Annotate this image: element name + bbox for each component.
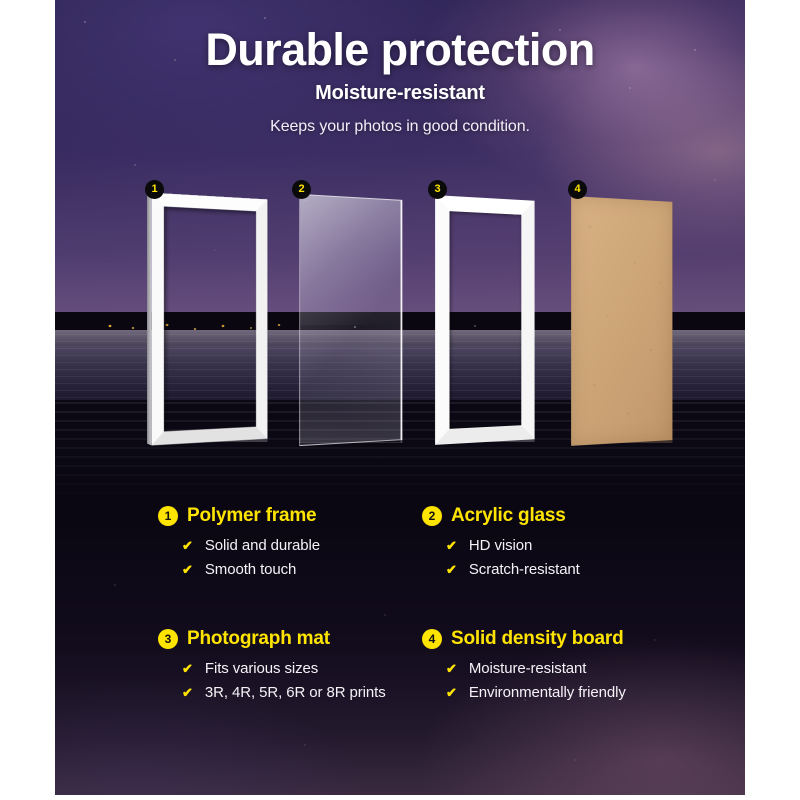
feature-item-text: Solid and durable: [205, 537, 320, 554]
photograph-mat-layer: [435, 195, 534, 445]
feature-item-text: Scratch-resistant: [469, 561, 580, 578]
check-icon: ✔: [446, 563, 457, 576]
feature-row-bottom: 3 Photograph mat ✔ Fits various sizes ✔ …: [55, 628, 745, 708]
check-icon: ✔: [446, 539, 457, 552]
feature-items: ✔ Solid and durable ✔ Smooth touch: [55, 537, 400, 578]
check-icon: ✔: [182, 539, 193, 552]
feature-item-text: 3R, 4R, 5R, 6R or 8R prints: [205, 684, 386, 701]
feature-heading: 3 Photograph mat: [55, 628, 400, 650]
check-icon: ✔: [446, 662, 457, 675]
feature-items: ✔ Fits various sizes ✔ 3R, 4R, 5R, 6R or…: [55, 660, 400, 701]
acrylic-glass-layer: [299, 194, 402, 446]
feature-heading: 2 Acrylic glass: [414, 505, 745, 527]
feature-badge-1: 1: [158, 506, 178, 526]
page-subtitle: Moisture-resistant: [0, 82, 800, 105]
list-item: ✔ HD vision: [446, 537, 745, 554]
feature-item-text: Fits various sizes: [205, 660, 318, 677]
feature-title: Acrylic glass: [451, 505, 566, 527]
feature-items: ✔ HD vision ✔ Scratch-resistant: [414, 537, 745, 578]
list-item: ✔ 3R, 4R, 5R, 6R or 8R prints: [182, 684, 400, 701]
feature-badge-3: 3: [158, 629, 178, 649]
list-item: ✔ Fits various sizes: [182, 660, 400, 677]
list-item: ✔ Solid and durable: [182, 537, 400, 554]
product-infographic: Durable protection Moisture-resistant Ke…: [0, 0, 800, 800]
feature-title: Polymer frame: [187, 505, 316, 527]
feature-item-text: HD vision: [469, 537, 532, 554]
check-icon: ✔: [182, 686, 193, 699]
layer-badge-2: 2: [292, 180, 311, 199]
feature-heading: 1 Polymer frame: [55, 505, 400, 527]
feature-list-section: 1 Polymer frame ✔ Solid and durable ✔ Sm…: [55, 505, 745, 708]
photograph-mat-inner-shadow: [449, 211, 521, 429]
feature-item-text: Moisture-resistant: [469, 660, 586, 677]
feature-items: ✔ Moisture-resistant ✔ Environmentally f…: [414, 660, 745, 701]
feature-block-photograph-mat: 3 Photograph mat ✔ Fits various sizes ✔ …: [55, 628, 400, 708]
polymer-frame-inner-shadow: [164, 207, 256, 432]
feature-row-top: 1 Polymer frame ✔ Solid and durable ✔ Sm…: [55, 505, 745, 585]
list-item: ✔ Environmentally friendly: [446, 684, 745, 701]
feature-badge-4: 4: [422, 629, 442, 649]
feature-block-polymer-frame: 1 Polymer frame ✔ Solid and durable ✔ Sm…: [55, 505, 400, 585]
check-icon: ✔: [182, 662, 193, 675]
header-block: Durable protection Moisture-resistant Ke…: [0, 26, 800, 136]
feature-badge-2: 2: [422, 506, 442, 526]
page-title: Durable protection: [0, 26, 800, 74]
feature-title: Solid density board: [451, 628, 624, 650]
list-item: ✔ Moisture-resistant: [446, 660, 745, 677]
list-item: ✔ Scratch-resistant: [446, 561, 745, 578]
polymer-frame-layer: [151, 193, 267, 446]
check-icon: ✔: [446, 686, 457, 699]
feature-block-acrylic-glass: 2 Acrylic glass ✔ HD vision ✔ Scratch-re…: [400, 505, 745, 585]
feature-block-solid-density-board: 4 Solid density board ✔ Moisture-resista…: [400, 628, 745, 708]
list-item: ✔ Smooth touch: [182, 561, 400, 578]
solid-density-board-layer: [571, 196, 672, 446]
solid-density-board-face: [571, 196, 672, 446]
layer-badge-4: 4: [568, 180, 587, 199]
acrylic-glass-sheen: [300, 195, 400, 325]
feature-title: Photograph mat: [187, 628, 330, 650]
layer-badge-1: 1: [145, 180, 164, 199]
feature-heading: 4 Solid density board: [414, 628, 745, 650]
acrylic-glass-face: [299, 194, 402, 446]
check-icon: ✔: [182, 563, 193, 576]
feature-item-text: Smooth touch: [205, 561, 296, 578]
feature-item-text: Environmentally friendly: [469, 684, 626, 701]
layer-badge-3: 3: [428, 180, 447, 199]
page-tagline: Keeps your photos in good condition.: [0, 118, 800, 136]
